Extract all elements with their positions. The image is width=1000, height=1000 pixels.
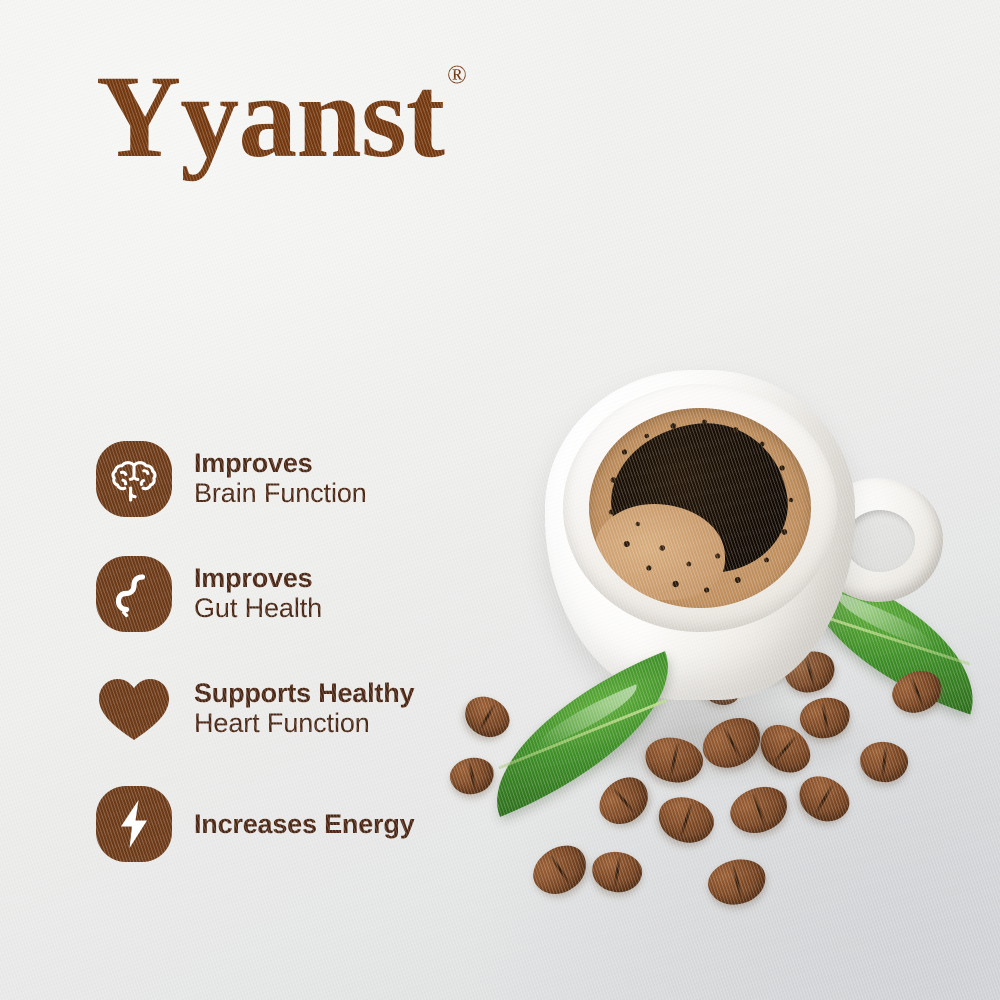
benefit-text: Improves Brain Function bbox=[194, 448, 367, 510]
benefit-text: Increases Energy bbox=[194, 809, 414, 839]
cup-handle-opening bbox=[845, 510, 915, 572]
benefit-subtitle: Heart Function bbox=[194, 708, 414, 740]
benefit-item-energy: Increases Energy bbox=[96, 785, 526, 863]
heart-icon bbox=[96, 674, 172, 744]
lightning-bolt-icon-badge bbox=[96, 786, 172, 862]
coffee-bean bbox=[704, 854, 771, 911]
benefit-text: Improves Gut Health bbox=[194, 563, 322, 625]
benefit-text: Supports Healthy Heart Function bbox=[194, 678, 414, 740]
intestine-icon bbox=[111, 570, 157, 618]
coffee-bean bbox=[724, 779, 794, 840]
benefit-title: Improves bbox=[194, 448, 367, 478]
coffee-cup bbox=[545, 370, 875, 730]
lightning-bolt-icon bbox=[117, 798, 151, 850]
coffee-bean bbox=[589, 849, 644, 896]
benefit-item-brain: Improves Brain Function bbox=[96, 440, 526, 518]
poster-canvas: Yyanst ® bbox=[0, 0, 1000, 1000]
registered-trademark-icon: ® bbox=[447, 62, 467, 88]
intestine-icon-badge bbox=[96, 556, 172, 632]
brain-icon bbox=[110, 456, 158, 502]
benefit-subtitle: Brain Function bbox=[194, 478, 367, 510]
coffee-bean bbox=[653, 790, 720, 849]
heart-icon-container bbox=[96, 671, 172, 747]
coffee-surface bbox=[589, 408, 811, 608]
benefit-title: Increases Energy bbox=[194, 809, 414, 839]
benefit-subtitle: Gut Health bbox=[194, 593, 322, 625]
coffee-bean bbox=[524, 836, 595, 904]
benefit-title: Improves bbox=[194, 563, 322, 593]
brain-icon-badge bbox=[96, 441, 172, 517]
benefits-list: Improves Brain Function Improves Gut Hea… bbox=[96, 440, 526, 863]
benefit-title: Supports Healthy bbox=[194, 678, 414, 708]
benefit-item-heart: Supports Healthy Heart Function bbox=[96, 670, 526, 748]
brand-name: Yyanst bbox=[96, 58, 444, 176]
coffee-bean bbox=[858, 740, 910, 785]
brand-logo: Yyanst ® bbox=[96, 58, 467, 176]
benefit-item-gut: Improves Gut Health bbox=[96, 555, 526, 633]
